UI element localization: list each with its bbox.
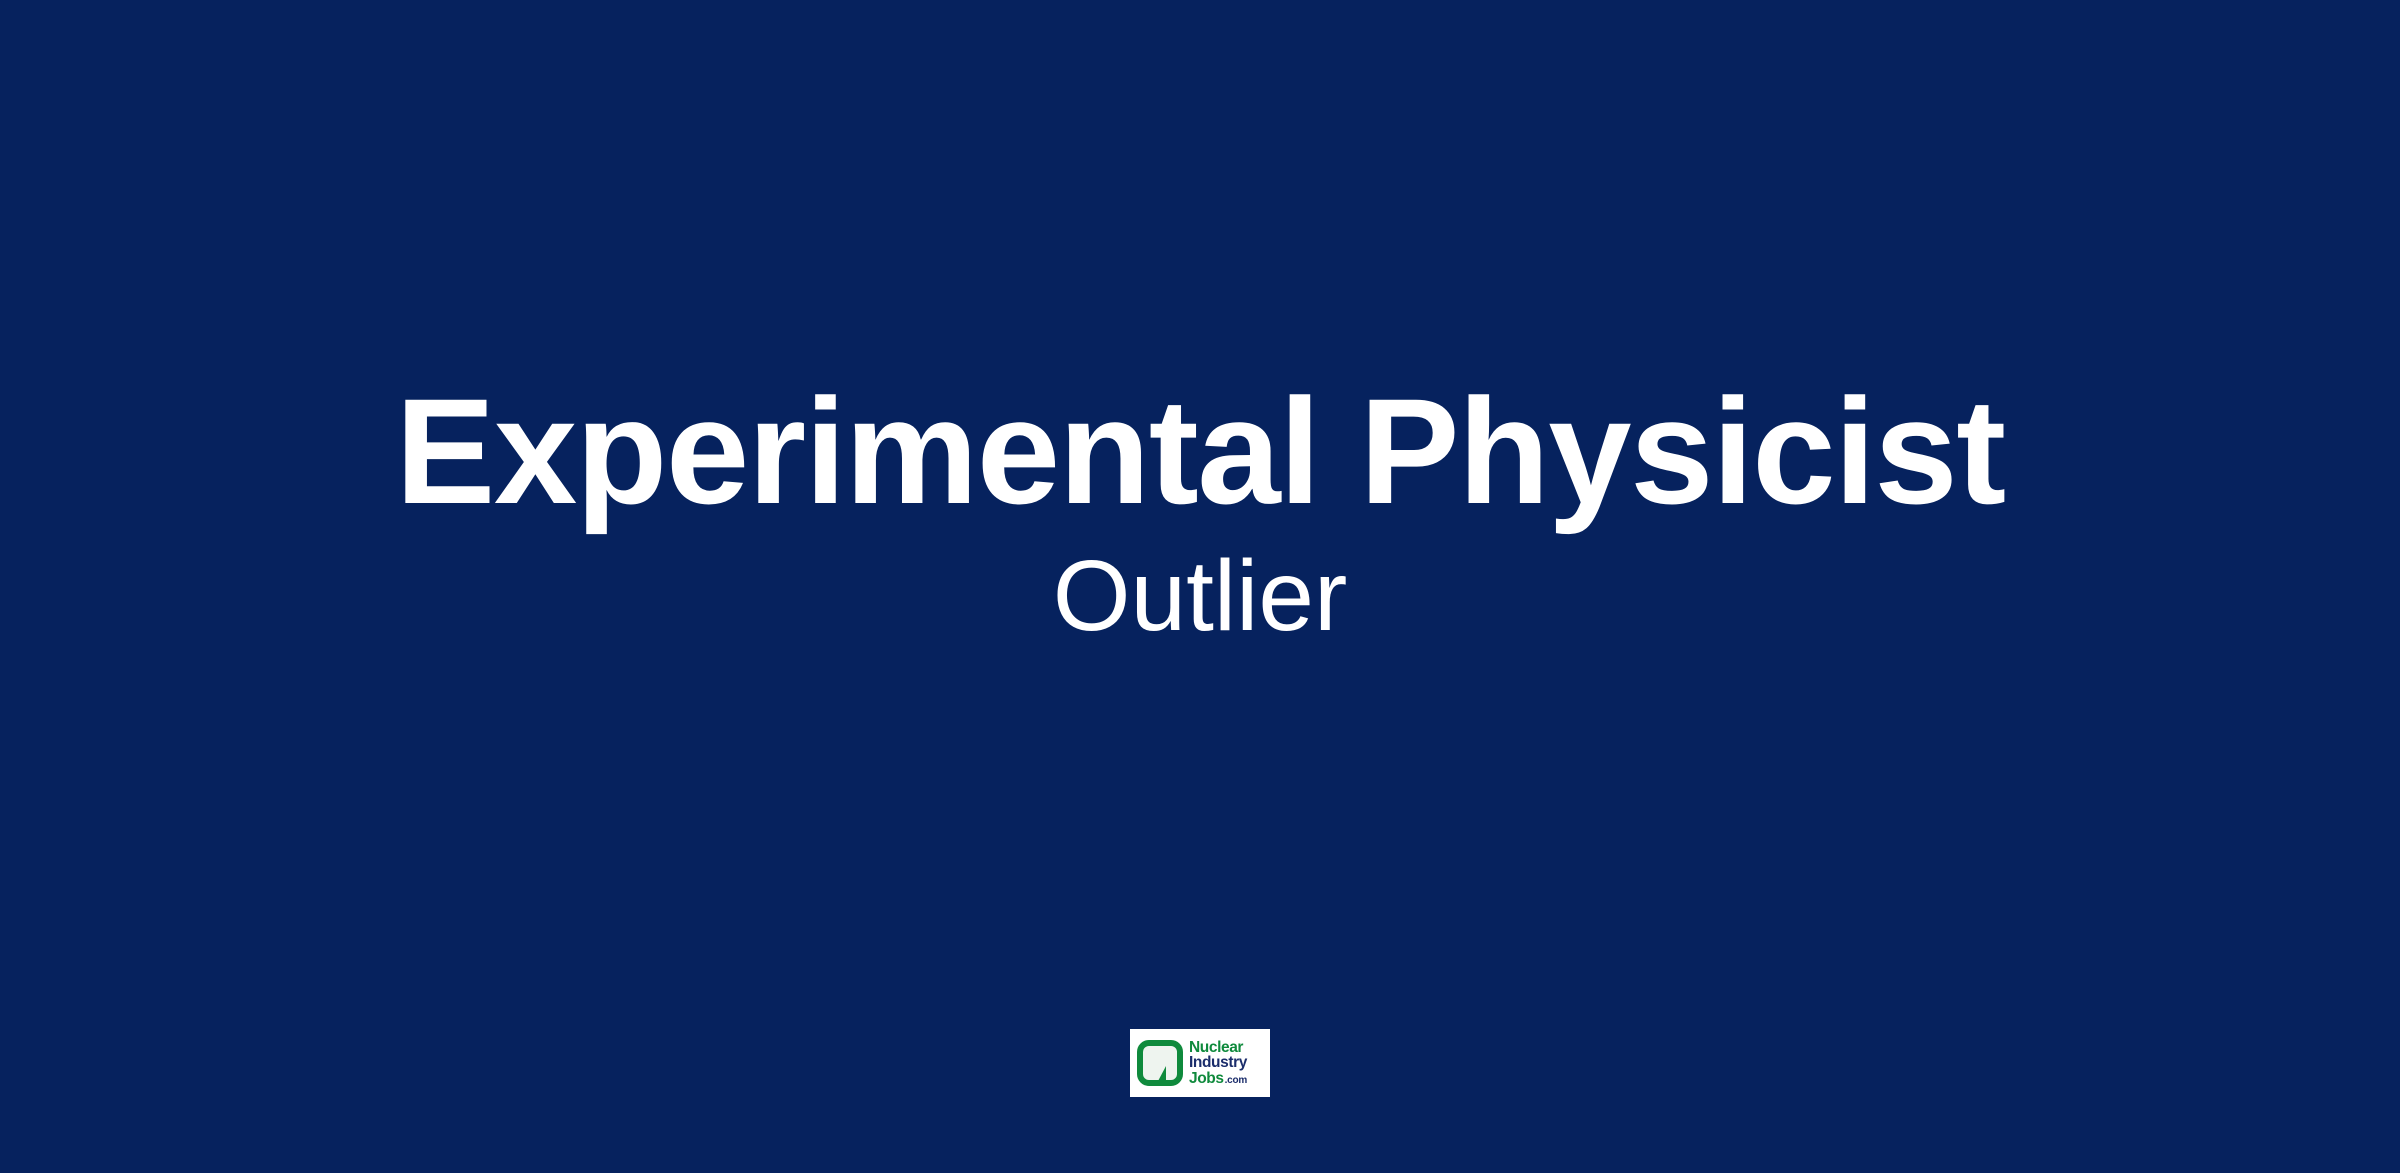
brand-logo[interactable]: Nuclear Industry Jobs .com xyxy=(1130,1029,1270,1097)
job-posting-card: Experimental Physicist Outlier Nuclear I… xyxy=(0,0,2400,1173)
brand-wordmark-line-3: Jobs .com xyxy=(1189,1071,1264,1087)
page-title: Experimental Physicist xyxy=(0,372,2400,531)
brand-wordmark-line-1: Nuclear xyxy=(1189,1040,1264,1056)
brand-wordmark-tld: .com xyxy=(1225,1076,1248,1086)
brand-wordmark-line-2: Industry xyxy=(1189,1055,1264,1071)
company-name: Outlier xyxy=(0,537,2400,655)
brand-wordmark: Nuclear Industry Jobs .com xyxy=(1189,1040,1264,1087)
nuclear-industry-jobs-mark-svg xyxy=(1136,1039,1184,1087)
brand-wordmark-jobs: Jobs xyxy=(1189,1071,1224,1087)
headline-block: Experimental Physicist Outlier xyxy=(0,372,2400,655)
nuclear-industry-jobs-icon xyxy=(1136,1039,1184,1087)
